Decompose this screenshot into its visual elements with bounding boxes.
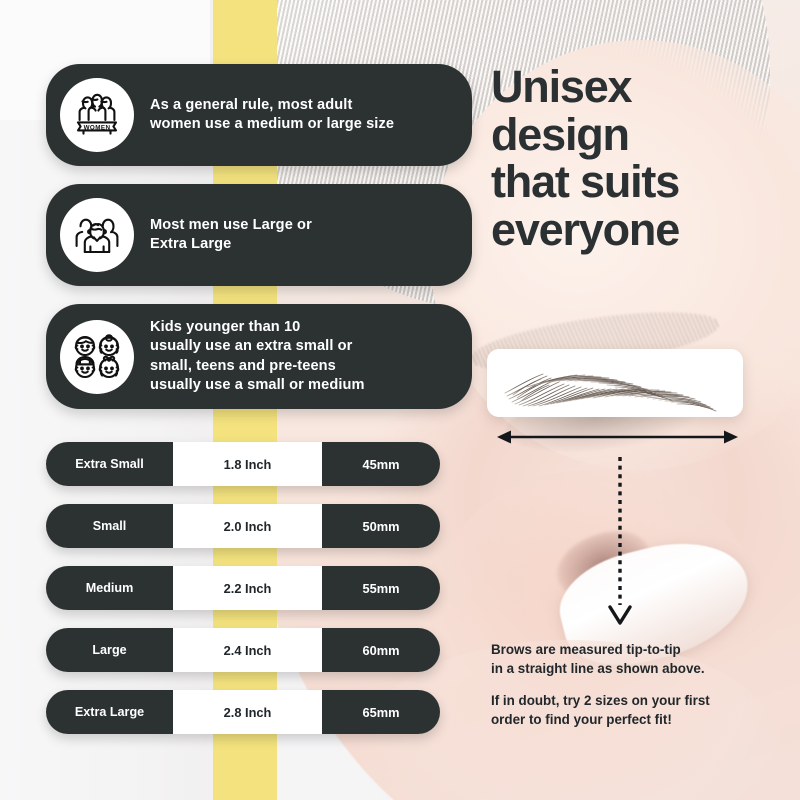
info-card-text: As a general rule, most adult women use …	[150, 96, 394, 135]
info-card-kids[interactable]: Kids younger than 10 usually use an extr…	[46, 304, 472, 409]
kids-group-icon	[60, 320, 134, 394]
size-name-cell: Large	[46, 628, 173, 672]
size-inch-cell: 2.4 Inch	[173, 628, 322, 672]
size-mm-cell: 60mm	[322, 628, 440, 672]
table-row[interactable]: Medium 2.2 Inch 55mm	[46, 566, 440, 610]
caption-line-2: If in doubt, try 2 sizes on your first o…	[491, 692, 787, 729]
info-card-text: Kids younger than 10 usually use an extr…	[150, 318, 365, 395]
dotted-down-arrow	[600, 455, 640, 627]
size-inch-cell: 2.8 Inch	[173, 690, 322, 734]
info-card-men[interactable]: Most men use Large or Extra Large	[46, 184, 472, 286]
size-chart-table: Extra Small 1.8 Inch 45mm Small 2.0 Inch…	[46, 442, 440, 752]
size-name-cell: Extra Large	[46, 690, 173, 734]
measurement-caption: Brows are measured tip-to-tip in a strai…	[491, 641, 787, 729]
size-inch-cell: 2.2 Inch	[173, 566, 322, 610]
women-group-icon: WOMEN	[60, 78, 134, 152]
info-card-women[interactable]: WOMEN As a general rule, most adult wome…	[46, 64, 472, 166]
size-name-cell: Small	[46, 504, 173, 548]
info-card-text: Most men use Large or Extra Large	[150, 216, 312, 255]
caption-line-1: Brows are measured tip-to-tip in a strai…	[491, 641, 787, 678]
size-mm-cell: 65mm	[322, 690, 440, 734]
size-mm-cell: 45mm	[322, 442, 440, 486]
size-inch-cell: 1.8 Inch	[173, 442, 322, 486]
size-mm-cell: 55mm	[322, 566, 440, 610]
table-row[interactable]: Large 2.4 Inch 60mm	[46, 628, 440, 672]
page-title: Unisex design that suits everyone	[491, 63, 791, 254]
size-name-cell: Medium	[46, 566, 173, 610]
svg-text:WOMEN: WOMEN	[84, 124, 111, 131]
size-name-cell: Extra Small	[46, 442, 173, 486]
table-row[interactable]: Extra Large 2.8 Inch 65mm	[46, 690, 440, 734]
table-row[interactable]: Extra Small 1.8 Inch 45mm	[46, 442, 440, 486]
size-inch-cell: 2.0 Inch	[173, 504, 322, 548]
table-row[interactable]: Small 2.0 Inch 50mm	[46, 504, 440, 548]
size-mm-cell: 50mm	[322, 504, 440, 548]
double-headed-arrow	[495, 428, 740, 446]
men-group-icon	[60, 198, 134, 272]
info-card-list: WOMEN As a general rule, most adult wome…	[46, 64, 472, 427]
eyebrow-image	[487, 349, 743, 417]
